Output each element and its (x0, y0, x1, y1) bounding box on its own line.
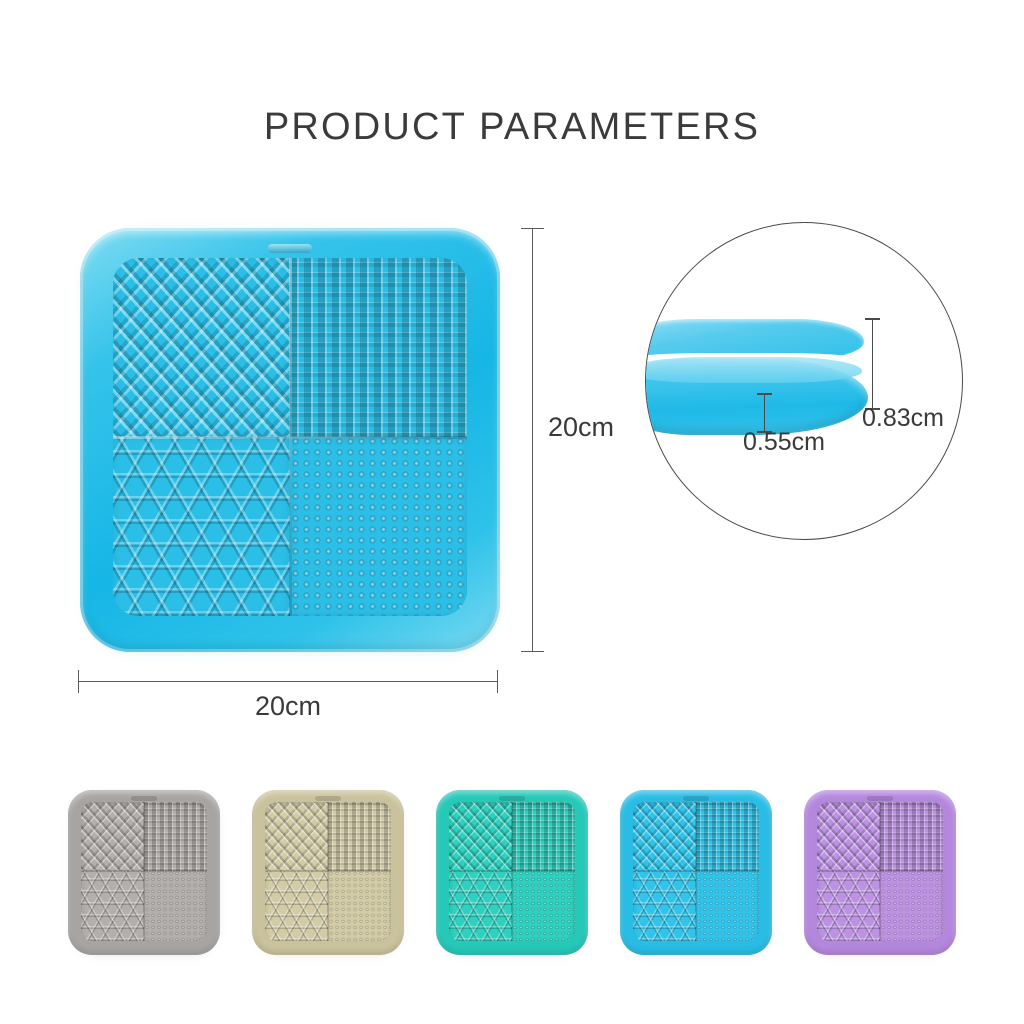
color-option-notch (867, 796, 893, 801)
color-option-purple[interactable] (804, 790, 956, 955)
mat-top-notch (268, 244, 312, 253)
height-dimension-label: 20cm (548, 412, 614, 443)
color-option-quadrant-1 (633, 802, 696, 872)
color-option-quadrant-3 (817, 871, 880, 941)
color-option-quadrant-1 (817, 802, 880, 872)
color-option-texture-area (81, 802, 207, 941)
quadrant-bottom-right-dots (290, 437, 467, 616)
color-option-notch (683, 796, 709, 801)
color-option-teal[interactable] (436, 790, 588, 955)
color-option-notch (131, 796, 157, 801)
color-option-texture-area (449, 802, 575, 941)
color-option-quadrant-2 (512, 802, 575, 872)
color-option-quadrant-1 (81, 802, 144, 872)
mat-body (80, 228, 500, 652)
mat-edge-cross-section (645, 319, 894, 445)
color-option-quadrant-2 (328, 802, 391, 872)
color-option-body (252, 790, 404, 955)
mat-texture-area (113, 258, 467, 616)
color-option-gray[interactable] (68, 790, 220, 955)
color-option-body (620, 790, 772, 955)
color-option-quadrant-2 (144, 802, 207, 872)
color-option-quadrant-4 (144, 871, 207, 941)
quadrant-top-left-herringbone (113, 258, 290, 437)
color-option-quadrant-4 (328, 871, 391, 941)
height-dimension-line (532, 228, 533, 652)
color-option-quadrant-4 (880, 871, 943, 941)
color-option-quadrant-2 (696, 802, 759, 872)
color-option-body (436, 790, 588, 955)
color-option-quadrant-3 (449, 871, 512, 941)
color-option-quadrant-2 (880, 802, 943, 872)
color-option-quadrant-1 (265, 802, 328, 872)
color-option-quadrant-3 (633, 871, 696, 941)
color-option-notch (315, 796, 341, 801)
inner-thickness-label: 0.55cm (743, 428, 825, 457)
color-options-row (0, 782, 1024, 962)
quadrant-top-right-dashes (290, 258, 467, 437)
color-option-quadrant-4 (696, 871, 759, 941)
color-option-texture-area (817, 802, 943, 941)
color-option-texture-area (265, 802, 391, 941)
page-title: PRODUCT PARAMETERS (0, 106, 1024, 149)
outer-thickness-marker (872, 318, 873, 410)
width-dimension-label: 20cm (78, 691, 498, 722)
color-option-quadrant-3 (265, 871, 328, 941)
mat-edge-slab-top (645, 357, 862, 383)
color-option-quadrant-1 (449, 802, 512, 872)
color-option-quadrant-4 (512, 871, 575, 941)
thickness-detail-callout (645, 222, 963, 540)
color-option-notch (499, 796, 525, 801)
color-option-body (804, 790, 956, 955)
color-option-body (68, 790, 220, 955)
color-option-quadrant-3 (81, 871, 144, 941)
quadrant-bottom-left-honeycomb (113, 437, 290, 616)
color-option-blue[interactable] (620, 790, 772, 955)
outer-thickness-label: 0.83cm (862, 404, 944, 433)
width-dimension-line (78, 681, 498, 682)
inner-thickness-marker (764, 393, 765, 433)
main-product-image (80, 228, 500, 652)
color-option-texture-area (633, 802, 759, 941)
color-option-khaki[interactable] (252, 790, 404, 955)
